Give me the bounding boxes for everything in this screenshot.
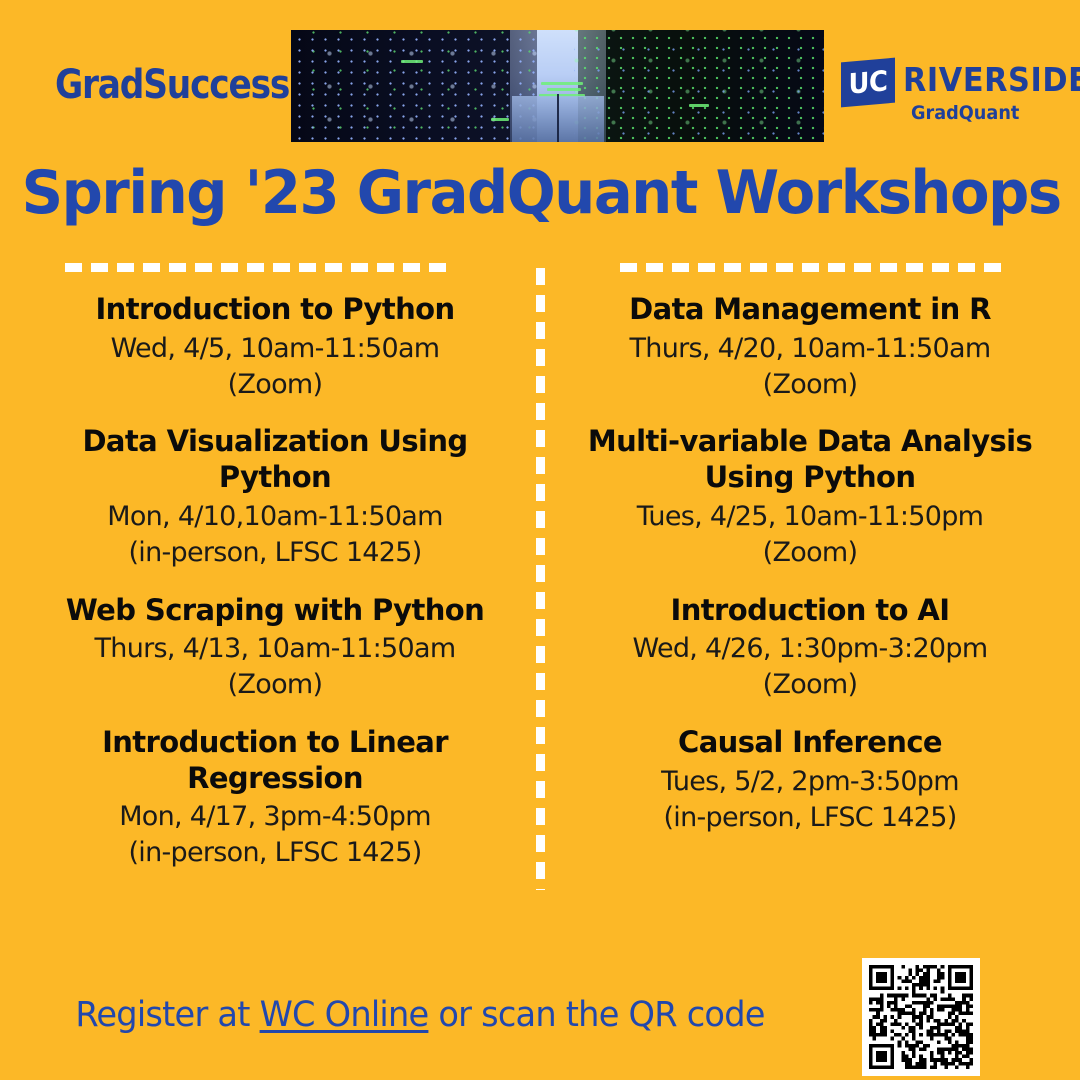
workshop-location: (in-person, LFSC 1425): [565, 800, 1055, 836]
workshop-datetime: Wed, 4/26, 1:30pm-3:20pm: [565, 631, 1055, 667]
workshop-location: (Zoom): [565, 667, 1055, 703]
workshop-title: Data Visualization Using Python: [40, 424, 510, 495]
workshop-location: (in-person, LFSC 1425): [40, 535, 510, 571]
footer-text-before: Register at: [75, 995, 259, 1035]
workshop-location: (Zoom): [565, 367, 1055, 403]
banner-streak: [689, 104, 709, 107]
workshop-datetime: Mon, 4/17, 3pm-4:50pm: [40, 799, 510, 835]
workshop-title: Introduction to Linear Regression: [40, 725, 510, 796]
workshop-location: (in-person, LFSC 1425): [40, 835, 510, 871]
banner-right-led-lights: [574, 30, 824, 142]
workshop-datetime: Mon, 4/10,10am-11:50am: [40, 499, 510, 535]
workshop-datetime: Thurs, 4/13, 10am-11:50am: [40, 631, 510, 667]
uc-logo-label: UC: [843, 58, 893, 107]
workshop-title: Multi-variable Data Analysis Using Pytho…: [565, 424, 1055, 495]
workshop-entry: Data Visualization Using PythonMon, 4/10…: [40, 424, 510, 570]
uc-riverside-logo: UC RIVERSIDE GradQuant: [837, 58, 1052, 128]
gradsuccess-logo: GradSuccess: [55, 62, 289, 108]
workshop-title: Data Management in R: [565, 292, 1055, 328]
gradquant-unit-label: GradQuant: [911, 102, 1019, 124]
workshop-entry: Data Management in RThurs, 4/20, 10am-11…: [565, 292, 1055, 402]
registration-footer: Register at WC Online or scan the QR cod…: [17, 995, 823, 1035]
workshop-title: Causal Inference: [565, 725, 1055, 761]
workshop-title: Introduction to Python: [40, 292, 510, 328]
workshop-entry: Introduction to AIWed, 4/26, 1:30pm-3:20…: [565, 593, 1055, 703]
banner-center-beam: [557, 94, 559, 142]
dashed-divider-right-top: [620, 263, 1010, 272]
workshop-column-right: Data Management in RThurs, 4/20, 10am-11…: [565, 292, 1055, 836]
qr-code[interactable]: [862, 958, 980, 1076]
workshop-location: (Zoom): [565, 535, 1055, 571]
workshop-entry: Web Scraping with PythonThurs, 4/13, 10a…: [40, 593, 510, 703]
banner-left-led-lights: [291, 30, 541, 142]
qr-code-image: [869, 965, 973, 1069]
workshop-datetime: Thurs, 4/20, 10am-11:50am: [565, 331, 1055, 367]
workshop-title: Web Scraping with Python: [40, 593, 510, 629]
footer-text-after: or scan the QR code: [428, 995, 764, 1035]
banner-streak: [547, 88, 581, 91]
wc-online-link[interactable]: WC Online: [260, 995, 429, 1035]
workshop-entry: Causal InferenceTues, 5/2, 2pm-3:50pm(in…: [565, 725, 1055, 835]
banner-streak: [541, 82, 583, 85]
workshop-column-left: Introduction to PythonWed, 4/5, 10am-11:…: [40, 292, 510, 871]
banner-streak: [401, 60, 423, 63]
dashed-divider-left-top: [65, 263, 455, 272]
workshop-location: (Zoom): [40, 667, 510, 703]
dashed-divider-vertical: [536, 268, 545, 890]
workshop-title: Introduction to AI: [565, 593, 1055, 629]
workshop-entry: Introduction to PythonWed, 4/5, 10am-11:…: [40, 292, 510, 402]
workshop-entry: Multi-variable Data Analysis Using Pytho…: [565, 424, 1055, 570]
poster-header: GradSuccess UC RIVERSIDE GradQuant: [0, 0, 1080, 150]
workshop-datetime: Tues, 4/25, 10am-11:50pm: [565, 499, 1055, 535]
riverside-wordmark: RIVERSIDE: [903, 60, 1080, 99]
workshop-location: (Zoom): [40, 367, 510, 403]
workshop-datetime: Tues, 5/2, 2pm-3:50pm: [565, 764, 1055, 800]
workshop-datetime: Wed, 4/5, 10am-11:50am: [40, 331, 510, 367]
banner-streak: [491, 118, 509, 121]
page-title: Spring '23 GradQuant Workshops: [22, 158, 1059, 228]
workshop-entry: Introduction to Linear RegressionMon, 4/…: [40, 725, 510, 871]
data-center-banner-image: [291, 30, 824, 142]
